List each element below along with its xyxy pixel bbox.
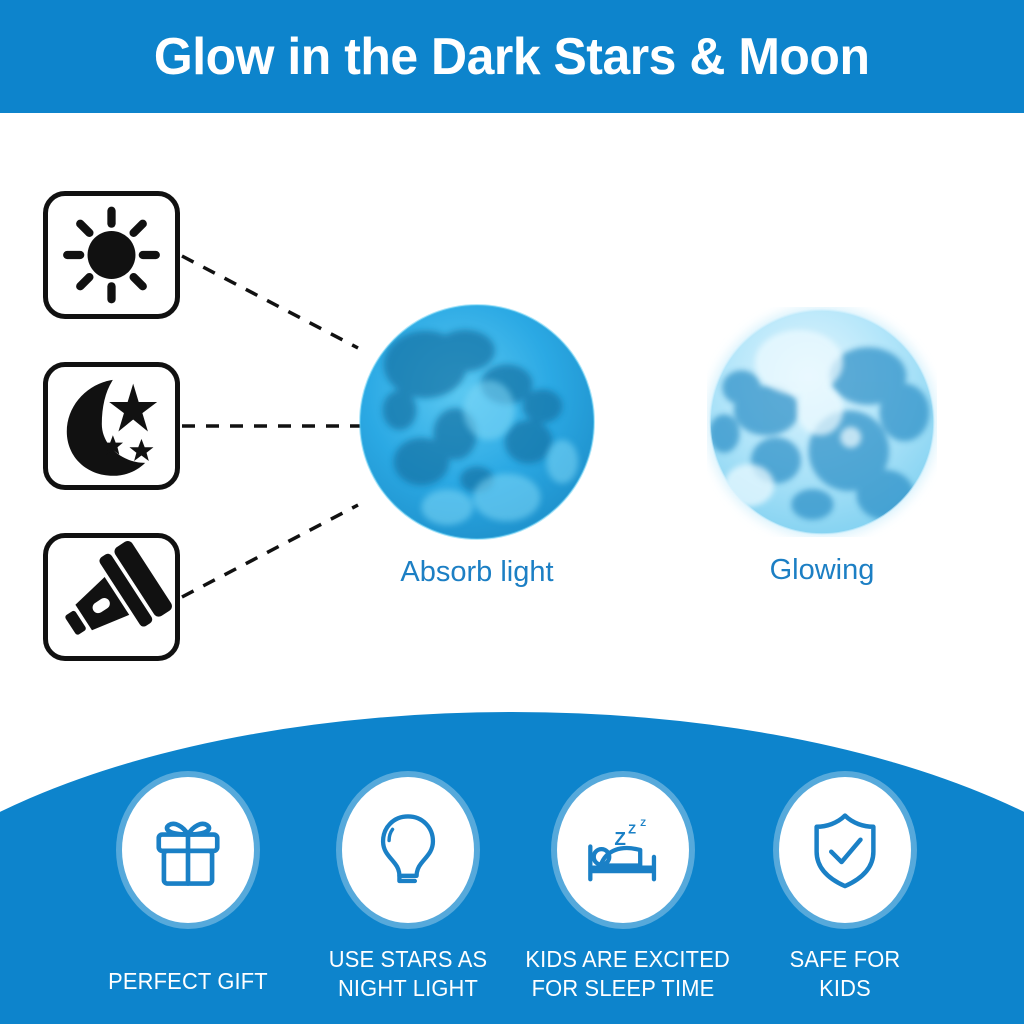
connector-sun bbox=[182, 256, 358, 348]
moon-stars-icon bbox=[48, 367, 175, 485]
label-line: SAFE FOR bbox=[747, 945, 942, 974]
label-line: KIDS ARE EXCITED bbox=[525, 945, 720, 974]
header-banner: Glow in the Dark Stars & Moon bbox=[0, 0, 1024, 113]
gift-icon bbox=[145, 807, 231, 893]
lightbulb-icon bbox=[365, 807, 451, 893]
infographic-page: Glow in the Dark Stars & Moon bbox=[0, 0, 1024, 1024]
label-line: PERFECT GIFT bbox=[90, 967, 285, 996]
page-title: Glow in the Dark Stars & Moon bbox=[154, 27, 870, 87]
badge-shield bbox=[779, 777, 911, 923]
feature-sleep-time: Z Z Z KIDS ARE EXCITED FOR SLEEP TIME bbox=[518, 777, 728, 1002]
icon-box-sun bbox=[43, 191, 180, 319]
feature-label-sleep-time: KIDS ARE EXCITED FOR SLEEP TIME bbox=[525, 945, 720, 1002]
icon-box-moon-stars bbox=[43, 362, 180, 490]
caption-absorb-light: Absorb light bbox=[358, 556, 596, 589]
label-line: NIGHT LIGHT bbox=[310, 974, 505, 1003]
svg-text:Z: Z bbox=[640, 818, 646, 829]
feature-label-perfect-gift: PERFECT GIFT bbox=[90, 967, 285, 996]
sun-icon bbox=[48, 196, 175, 314]
moon-glowing bbox=[707, 307, 937, 537]
label-line: KIDS bbox=[747, 974, 942, 1003]
svg-text:Z: Z bbox=[628, 822, 636, 837]
icon-box-flashlight bbox=[43, 533, 180, 661]
label-line: FOR SLEEP TIME bbox=[525, 974, 720, 1003]
connector-flashlight bbox=[182, 505, 358, 597]
svg-text:Z: Z bbox=[614, 829, 626, 850]
flashlight-icon bbox=[48, 538, 175, 656]
feature-label-night-light: USE STARS AS NIGHT LIGHT bbox=[310, 945, 505, 1002]
badge-lightbulb bbox=[342, 777, 474, 923]
feature-safe-for-kids: SAFE FOR KIDS bbox=[740, 777, 950, 1002]
sleeping-bed-icon: Z Z Z bbox=[580, 807, 666, 893]
feature-label-safe-for-kids: SAFE FOR KIDS bbox=[747, 945, 942, 1002]
feature-perfect-gift: PERFECT GIFT bbox=[83, 777, 293, 996]
moon-absorb-light bbox=[358, 303, 596, 541]
shield-check-icon bbox=[802, 807, 888, 893]
badge-gift bbox=[122, 777, 254, 923]
feature-night-light: USE STARS AS NIGHT LIGHT bbox=[303, 777, 513, 1002]
label-line: USE STARS AS bbox=[310, 945, 505, 974]
caption-glowing: Glowing bbox=[707, 554, 937, 587]
badge-sleeping-bed: Z Z Z bbox=[557, 777, 689, 923]
